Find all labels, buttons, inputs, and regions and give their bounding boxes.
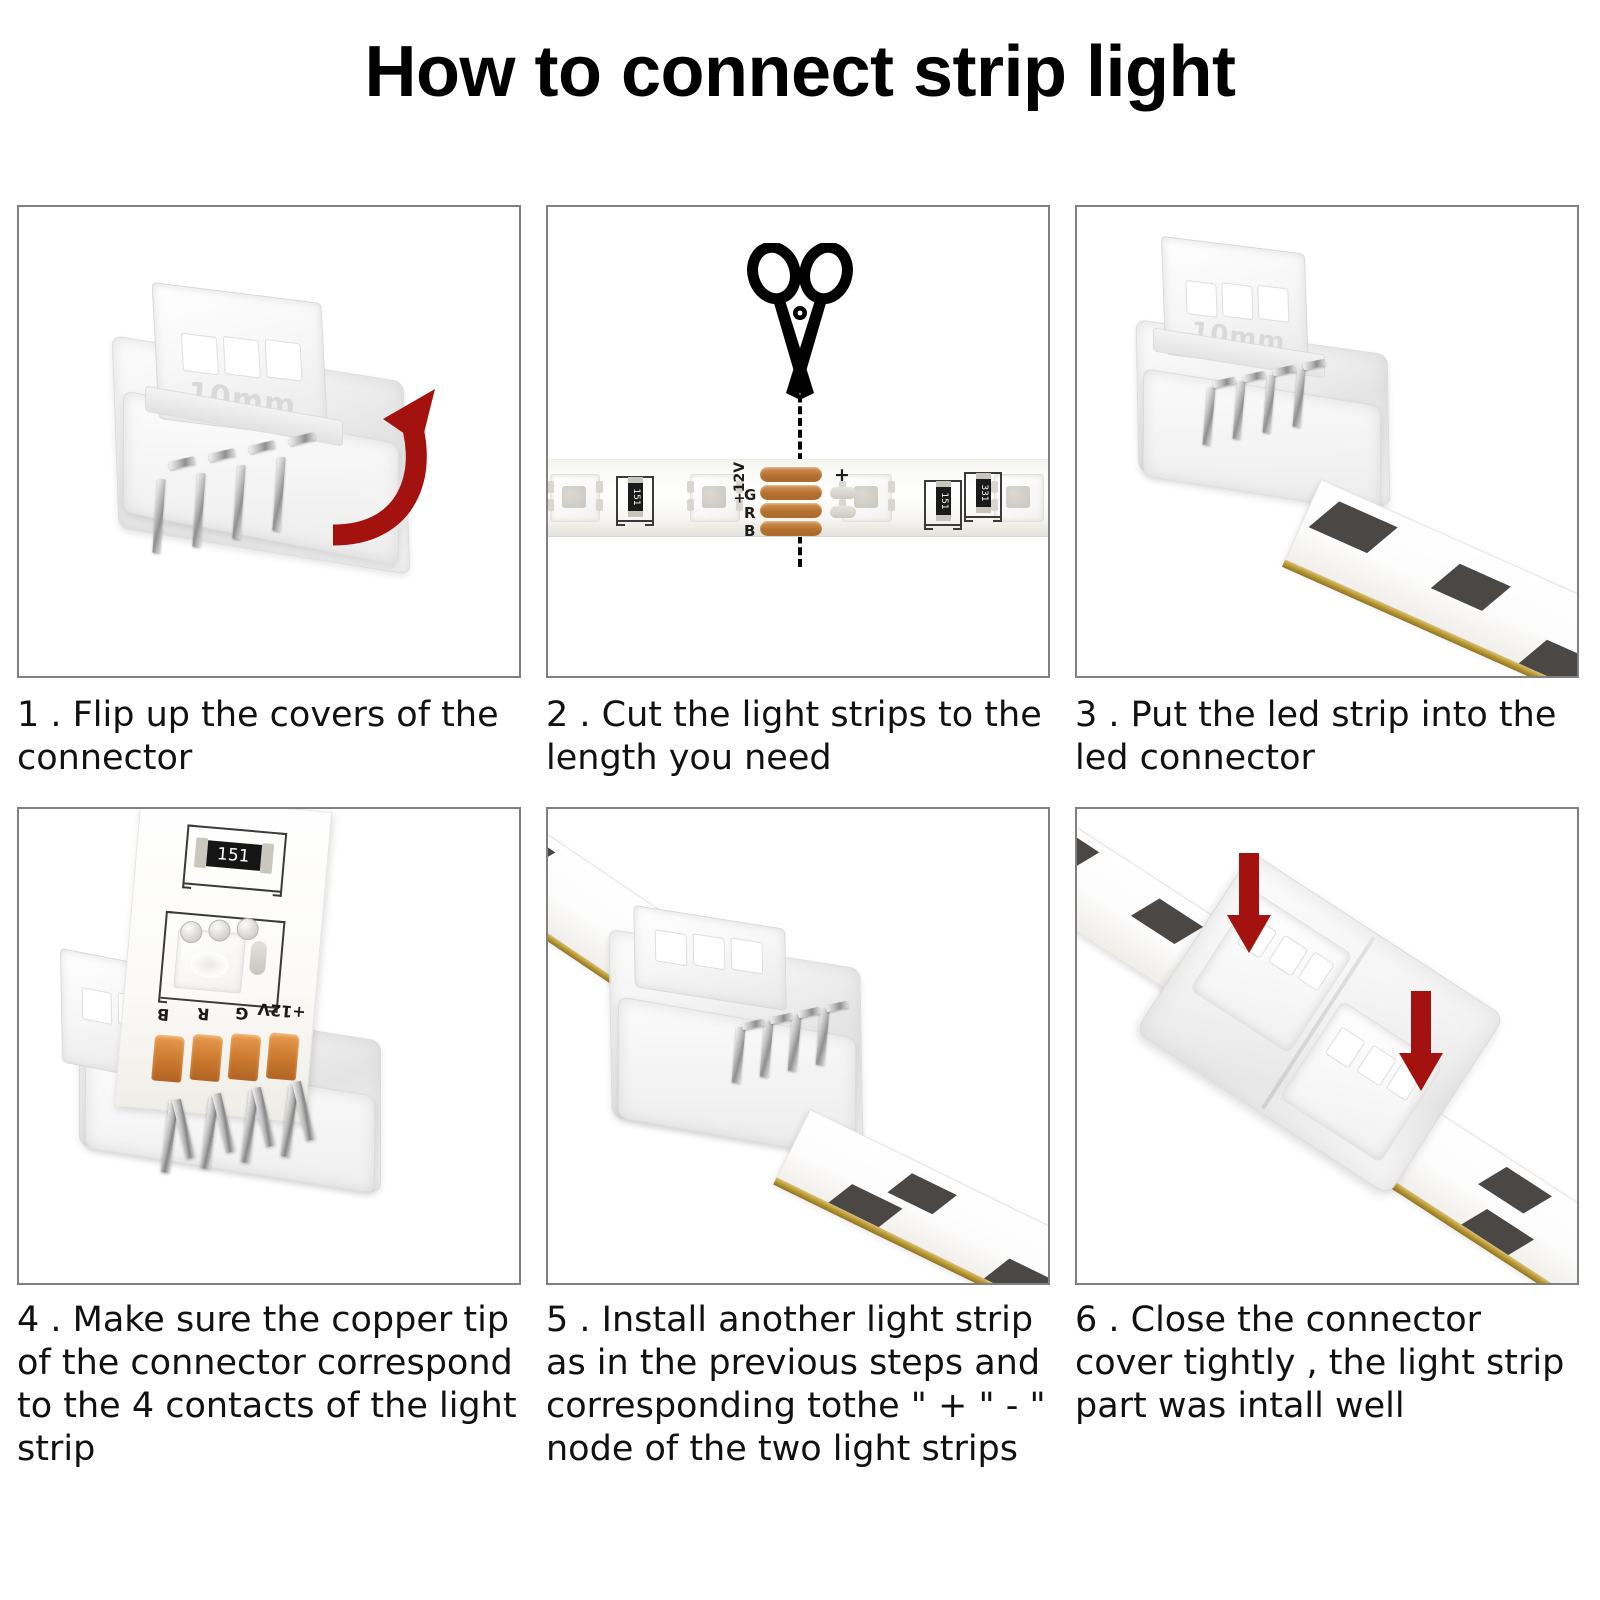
step-cell-1: 10mm 1 . Flip up t (17, 205, 525, 780)
strip-label-plus: + (834, 464, 850, 486)
steps-row-top: 10mm 1 . Flip up t (17, 205, 1583, 780)
lid-slot (1257, 285, 1289, 323)
step-cell-4: 151 (17, 807, 525, 1471)
resistor: 331 (976, 478, 991, 508)
contact-label-12v: +12V (257, 999, 307, 1022)
lid-slot (82, 987, 113, 1025)
resistor: 151 (204, 840, 264, 871)
step-caption-2: 2 . Cut the light strips to the length y… (546, 694, 1054, 780)
strip-tape-mark (1309, 501, 1398, 553)
copper-pad (760, 467, 822, 482)
led-package (550, 474, 600, 522)
strip-contact (266, 1032, 300, 1080)
lid-slot (181, 333, 219, 376)
press-down-arrow-icon (1221, 853, 1277, 957)
small-pad (830, 506, 856, 518)
copper-pad (760, 503, 822, 518)
step-cell-5: 5 . Install another light strip as in th… (546, 807, 1054, 1471)
step-cell-2: 151 151 331 +12V G R B (546, 205, 1054, 780)
resistor-code: 151 (631, 488, 641, 505)
resistor-code: 151 (939, 492, 949, 509)
resistor-code: 151 (216, 844, 250, 867)
lid-slot (223, 336, 261, 379)
contact-label-r: R (196, 1004, 210, 1024)
strip-tape-mark (546, 820, 555, 870)
led-logo (189, 950, 229, 979)
steps-row-bottom: 151 (17, 807, 1583, 1471)
strip-tape-mark (1478, 1167, 1552, 1214)
strip-contact (151, 1034, 185, 1082)
step-image-1: 10mm (17, 205, 521, 678)
step-image-2: 151 151 331 +12V G R B (546, 205, 1050, 678)
step-image-4: 151 (17, 807, 521, 1285)
lid-slot (1221, 282, 1253, 320)
step-caption-6: 6 . Close the connector cover tightly , … (1075, 1299, 1583, 1428)
step-caption-5: 5 . Install another light strip as in th… (546, 1299, 1054, 1471)
contact-label-b: B (156, 1004, 170, 1024)
led-strip-underside: 151 (114, 807, 332, 1123)
strip-contact (189, 1034, 223, 1082)
small-pad (830, 487, 856, 499)
strip-tape-mark (981, 1259, 1050, 1285)
led-strip: 151 151 331 +12V G R B (546, 459, 1050, 537)
copper-pad (760, 485, 822, 500)
strip-tape-mark (1431, 564, 1511, 611)
lid-slot (655, 929, 688, 966)
strip-tape-mark (1075, 821, 1099, 871)
resistor: 151 (628, 482, 643, 512)
step-cell-3: 10mm 3 . Put the (1075, 205, 1583, 780)
page-title: How to connect strip light (0, 36, 1600, 108)
step-caption-3: 3 . Put the led strip into the led conne… (1075, 694, 1583, 780)
strip-tape-mark (1131, 899, 1203, 945)
strip-label-r: R (744, 504, 756, 522)
press-down-arrow-icon (1393, 991, 1449, 1095)
lid-slot (1185, 280, 1217, 318)
lid-slot (731, 937, 764, 974)
steps-grid: 10mm 1 . Flip up t (17, 205, 1583, 1471)
copper-pad (760, 521, 822, 536)
resistor-code: 331 (979, 484, 989, 501)
lid-slot (693, 933, 726, 970)
flip-up-arrow-icon (287, 367, 447, 547)
step-caption-1: 1 . Flip up the covers of the connector (17, 694, 525, 780)
step-caption-4: 4 . Make sure the copper tip of the conn… (17, 1299, 525, 1471)
step-image-5 (546, 807, 1050, 1285)
resistor: 151 (936, 486, 951, 516)
step-image-6 (1075, 807, 1579, 1285)
strip-label-g: G (744, 486, 756, 504)
strip-contact (228, 1033, 262, 1081)
contact-label-g: G (235, 1003, 250, 1023)
step-image-3: 10mm (1075, 205, 1579, 678)
step-cell-6: 6 . Close the connector cover tightly , … (1075, 807, 1583, 1471)
strip-tape-mark (1075, 861, 1077, 909)
strip-label-b: B (744, 522, 755, 540)
